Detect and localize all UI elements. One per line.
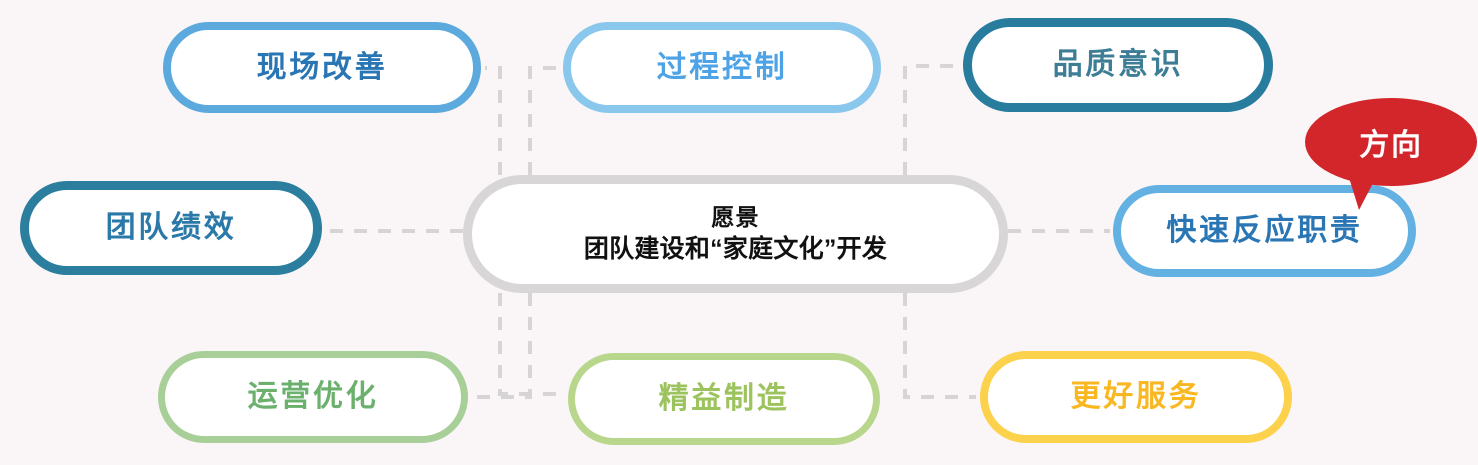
node-quality-awareness[interactable]: 品质意识 bbox=[963, 18, 1273, 112]
node-on-site-improvement[interactable]: 现场改善 bbox=[163, 22, 481, 113]
center-title: 愿景 bbox=[711, 202, 759, 232]
direction-badge-label: 方向 bbox=[1359, 120, 1423, 164]
node-vision-center[interactable]: 愿景团队建设和“家庭文化”开发 bbox=[463, 175, 1008, 293]
connector-center-to-better-service bbox=[905, 293, 976, 397]
node-process-control[interactable]: 过程控制 bbox=[563, 22, 881, 113]
direction-badge[interactable]: 方向 bbox=[1305, 98, 1477, 186]
node-label-lean-manufacturing: 精益制造 bbox=[659, 379, 790, 419]
connector-center-to-lean-manufacturing bbox=[500, 293, 564, 394]
node-label-rapid-response: 快速反应职责 bbox=[1166, 211, 1362, 251]
node-better-service[interactable]: 更好服务 bbox=[980, 351, 1292, 443]
node-label-operations-optimization: 运营优化 bbox=[248, 377, 379, 417]
node-label-team-performance: 团队绩效 bbox=[106, 208, 237, 248]
connector-center-to-on-site-improvement bbox=[485, 68, 500, 175]
node-lean-manufacturing[interactable]: 精益制造 bbox=[568, 353, 880, 445]
center-subtitle: 团队建设和“家庭文化”开发 bbox=[584, 233, 887, 266]
connector-center-to-operations-optimization bbox=[472, 293, 530, 397]
diagram-canvas: 现场改善过程控制品质意识团队绩效快速反应职责运营优化精益制造更好服务愿景团队建设… bbox=[0, 0, 1478, 465]
node-operations-optimization[interactable]: 运营优化 bbox=[158, 351, 468, 443]
node-label-process-control: 过程控制 bbox=[657, 48, 788, 88]
connector-center-to-process-control bbox=[530, 68, 560, 175]
badge-tail-shape bbox=[1339, 158, 1399, 214]
node-label-on-site-improvement: 现场改善 bbox=[257, 48, 388, 88]
badge-tail-path bbox=[1343, 158, 1385, 210]
node-team-performance[interactable]: 团队绩效 bbox=[20, 181, 322, 275]
connector-center-to-quality-awareness bbox=[905, 66, 958, 175]
node-label-better-service: 更好服务 bbox=[1071, 377, 1202, 417]
node-label-quality-awareness: 品质意识 bbox=[1053, 45, 1184, 85]
